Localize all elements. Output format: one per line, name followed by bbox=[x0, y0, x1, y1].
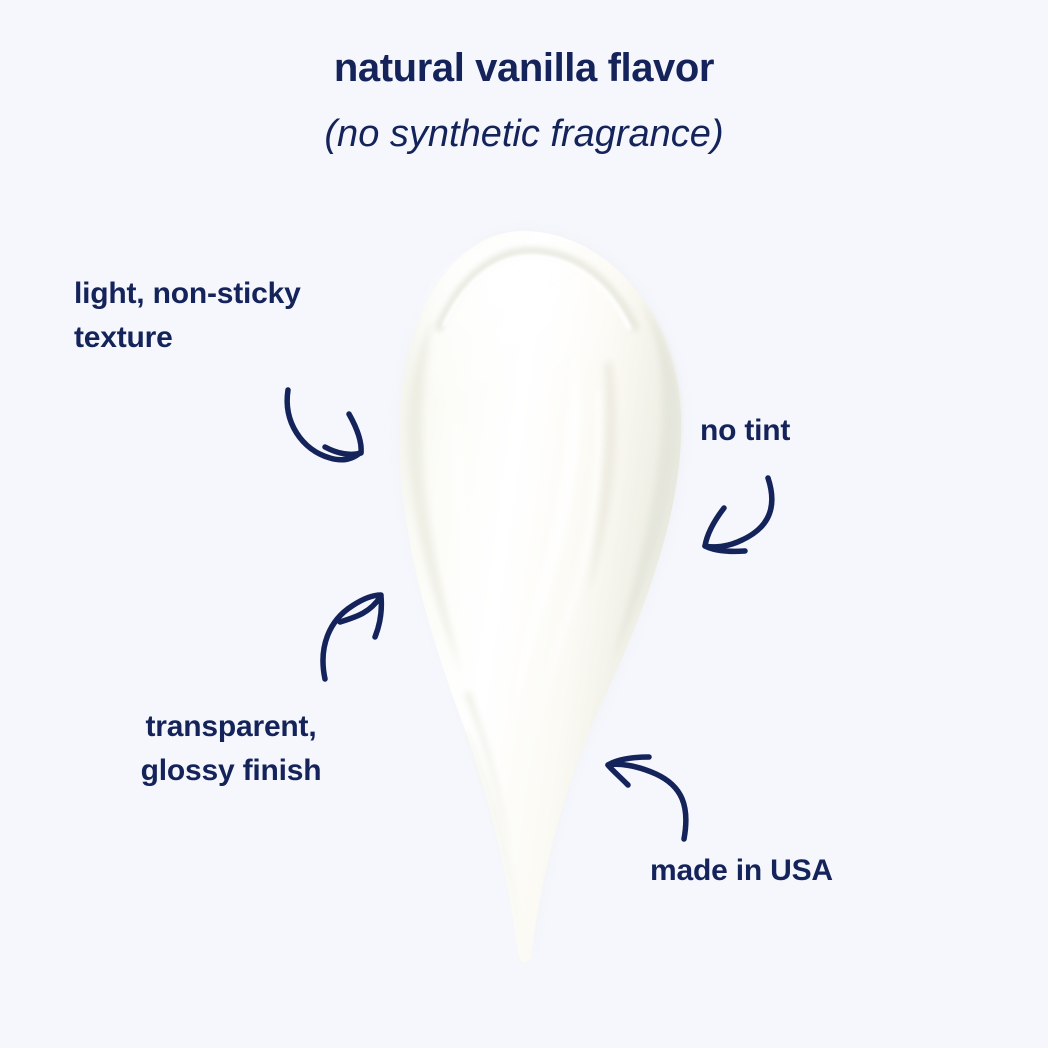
callout-label-glossy-finish: transparent, glossy finish bbox=[60, 705, 402, 792]
callout-label-made-in-usa: made in USA bbox=[650, 849, 950, 893]
curved-arrow-up-right-icon bbox=[323, 595, 381, 679]
callout-label-no-tint: no tint bbox=[700, 409, 930, 453]
curved-arrow-down-left-icon bbox=[705, 478, 772, 551]
callout-label-texture: light, non-sticky texture bbox=[74, 272, 404, 359]
product-callout-graphic: natural vanilla flavor (no synthetic fra… bbox=[0, 0, 1048, 1048]
page-title: natural vanilla flavor bbox=[0, 45, 1048, 91]
page-subtitle: (no synthetic fragrance) bbox=[0, 113, 1048, 157]
curved-arrow-down-right-icon bbox=[287, 390, 361, 460]
curved-arrow-up-left-icon bbox=[608, 757, 686, 839]
